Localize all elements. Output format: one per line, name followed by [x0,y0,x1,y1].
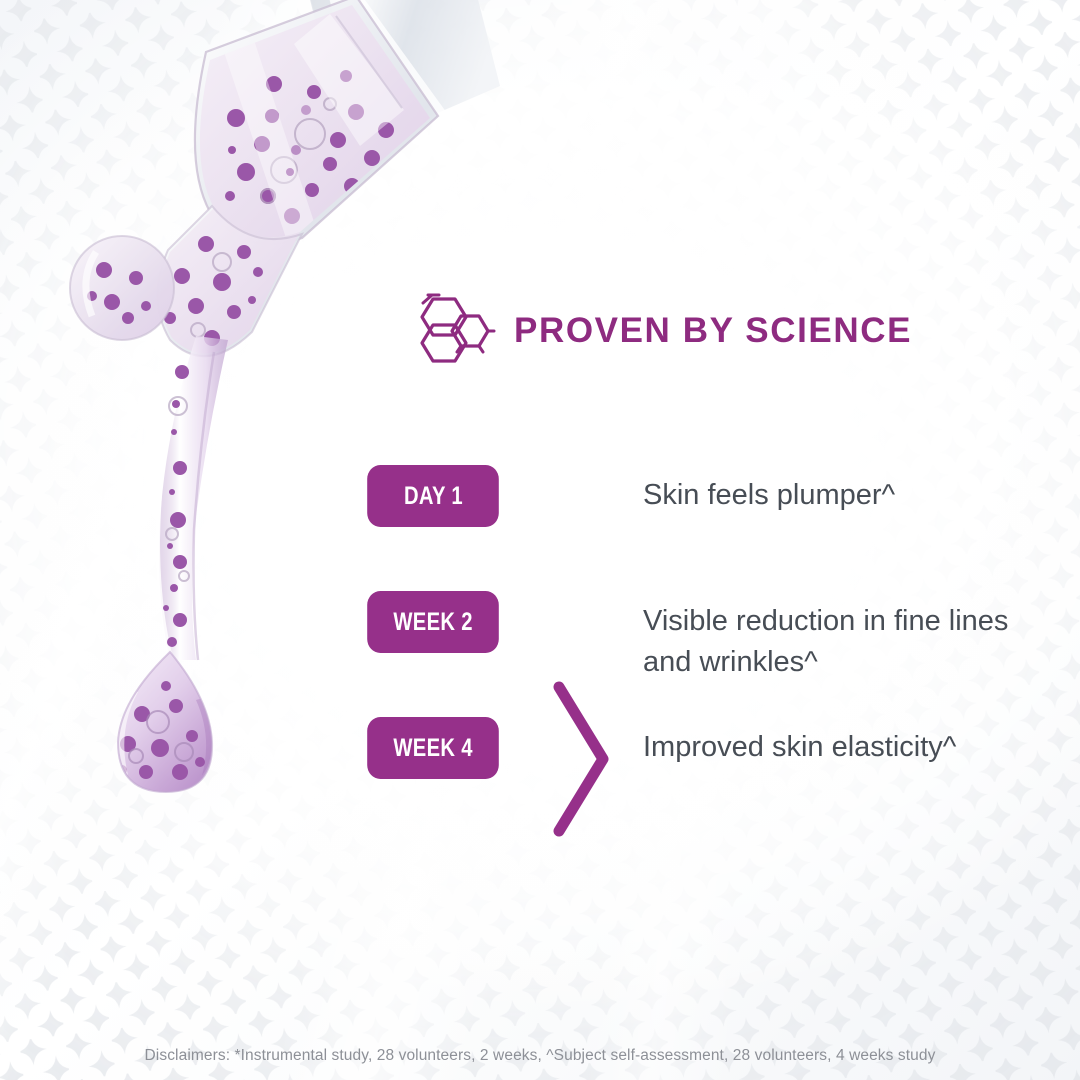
headline: PROVEN BY SCIENCE [414,292,912,368]
badge-day-1-label: DAY 1 [404,482,463,511]
benefit-week-4: Improved skin elasticity^ [643,717,956,768]
promo-canvas: PROVEN BY SCIENCE DAY 1 Skin feels plump… [0,0,1080,1080]
badge-day-1: DAY 1 [367,465,499,527]
timeline-row-week-2: WEEK 2 Visible reduction in fine lines a… [363,591,1043,717]
disclaimer-text: Disclaimers: *Instrumental study, 28 vol… [0,1047,1080,1065]
timeline-row-week-4: WEEK 4 Improved skin elasticity^ [363,717,1043,843]
badge-week-2-label: WEEK 2 [393,608,472,637]
badge-week-4-label: WEEK 4 [393,734,472,763]
molecule-hexagons-icon [414,292,496,368]
badge-week-4: WEEK 4 [367,717,499,779]
headline-text: PROVEN BY SCIENCE [514,313,912,348]
timeline-row-day-1: DAY 1 Skin feels plumper^ [363,465,1043,591]
benefit-day-1: Skin feels plumper^ [643,465,895,516]
benefit-week-2: Visible reduction in fine lines and wrin… [643,591,1043,683]
badge-week-2: WEEK 2 [367,591,499,653]
results-timeline: DAY 1 Skin feels plumper^ WEEK 2 Visible… [363,465,1043,843]
